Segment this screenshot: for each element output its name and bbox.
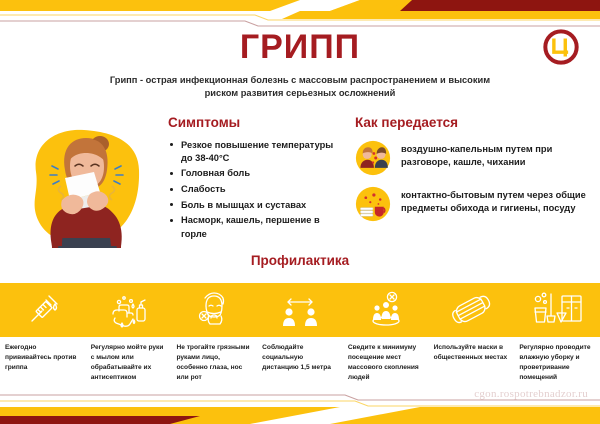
header-yellow-wedge [268,11,600,19]
bullet-icon [170,143,173,146]
sneezing-woman-illustration [18,122,150,248]
prevention-icon-cell [86,283,172,337]
list-item: Слабость [168,183,343,196]
two-people-talking-icon [355,140,391,176]
symptom-text: Боль в мышцах и суставах [181,200,306,210]
cup-body [375,206,384,216]
transmission-heading: Как передается [355,116,595,130]
symptom-text: Слабость [181,184,226,194]
header-darkred-shape [400,0,600,11]
prevention-heading: Профилактика [0,253,600,268]
prevention-caption: Не трогайте грязными руками лицо, особен… [171,343,257,383]
prevention-icon-cell [0,283,86,337]
prevention-caption: Регулярно мойте руки с мылом или обрабат… [86,343,172,383]
transmission-text: воздушно-капельным путем при разговоре, … [401,140,595,170]
bullet-icon [170,172,173,175]
symptoms-section: Симптомы Резкое повышение температуры до… [168,116,343,243]
dishes-cup-icon [355,186,391,222]
prevention-icon-cell [171,283,257,337]
avoid-crowds-icon [364,290,408,330]
woman-skirt [58,238,117,248]
transmission-item-contact: контактно-бытовым путем через общие пред… [355,186,595,222]
bullet-icon [170,188,173,191]
social-distance-icon [277,290,323,330]
header-thin-red-line [0,21,600,26]
prevention-caption: Используйте маски в общественных местах [429,343,515,383]
prevention-caption: Ежегодно прививайтесь против гриппа [0,343,86,383]
prevention-caption: Соблюдайте социальную дистанцию 1,5 метр… [257,343,343,383]
no-face-touch-icon [193,290,235,330]
prevention-icons-row [0,283,600,337]
list-item: Насморк, кашель, першение в горле [168,214,343,240]
bullet-icon [170,219,173,222]
cleaning-airing-icon [531,290,583,330]
list-item: Головная боль [168,167,343,180]
footer-decoration [0,390,600,424]
transmission-text: контактно-бытовым путем через общие пред… [401,186,595,216]
transmission-section: Как передается воздушно-капельным путем … [355,116,595,222]
prevention-icon-cell [343,283,429,337]
face-mask-icon [448,290,494,330]
symptom-text: Резкое повышение температуры до 38-40°C [181,140,333,163]
symptoms-heading: Симптомы [168,116,343,130]
plates-stack [360,207,373,216]
prevention-icon-cell [429,283,515,337]
page-title: ГРИПП [0,30,600,64]
syringe-icon [23,290,63,330]
list-item: Резкое повышение температуры до 38-40°C [168,139,343,165]
prevention-icon-cell [514,283,600,337]
symptom-text: Головная боль [181,168,250,178]
cgon-rospotrebnadzor-logo [542,28,580,66]
bullet-icon [170,203,173,206]
prevention-captions-row: Ежегодно прививайтесь против гриппа Регу… [0,343,600,383]
washing-hands-icon [107,290,151,330]
symptoms-list: Резкое повышение температуры до 38-40°C … [168,139,343,241]
prevention-caption: Сведите к минимуму посещение мест массов… [343,343,429,383]
transmission-item-airborne: воздушно-капельным путем при разговоре, … [355,140,595,176]
page-subtitle: Грипп - острая инфекционная болезнь с ма… [100,74,500,101]
influenza-infographic-poster: ГРИПП Грипп - острая инфекционная болезн… [0,0,600,424]
prevention-icon-cell [257,283,343,337]
list-item: Боль в мышцах и суставах [168,199,343,212]
footer-thin-red-line [0,395,600,400]
prevention-caption: Регулярно проводите влажную уборку и про… [514,343,600,383]
symptom-text: Насморк, кашель, першение в горле [181,215,320,238]
footer-darkred-shape [0,416,200,424]
footer-thin-yellow-line [0,401,600,406]
